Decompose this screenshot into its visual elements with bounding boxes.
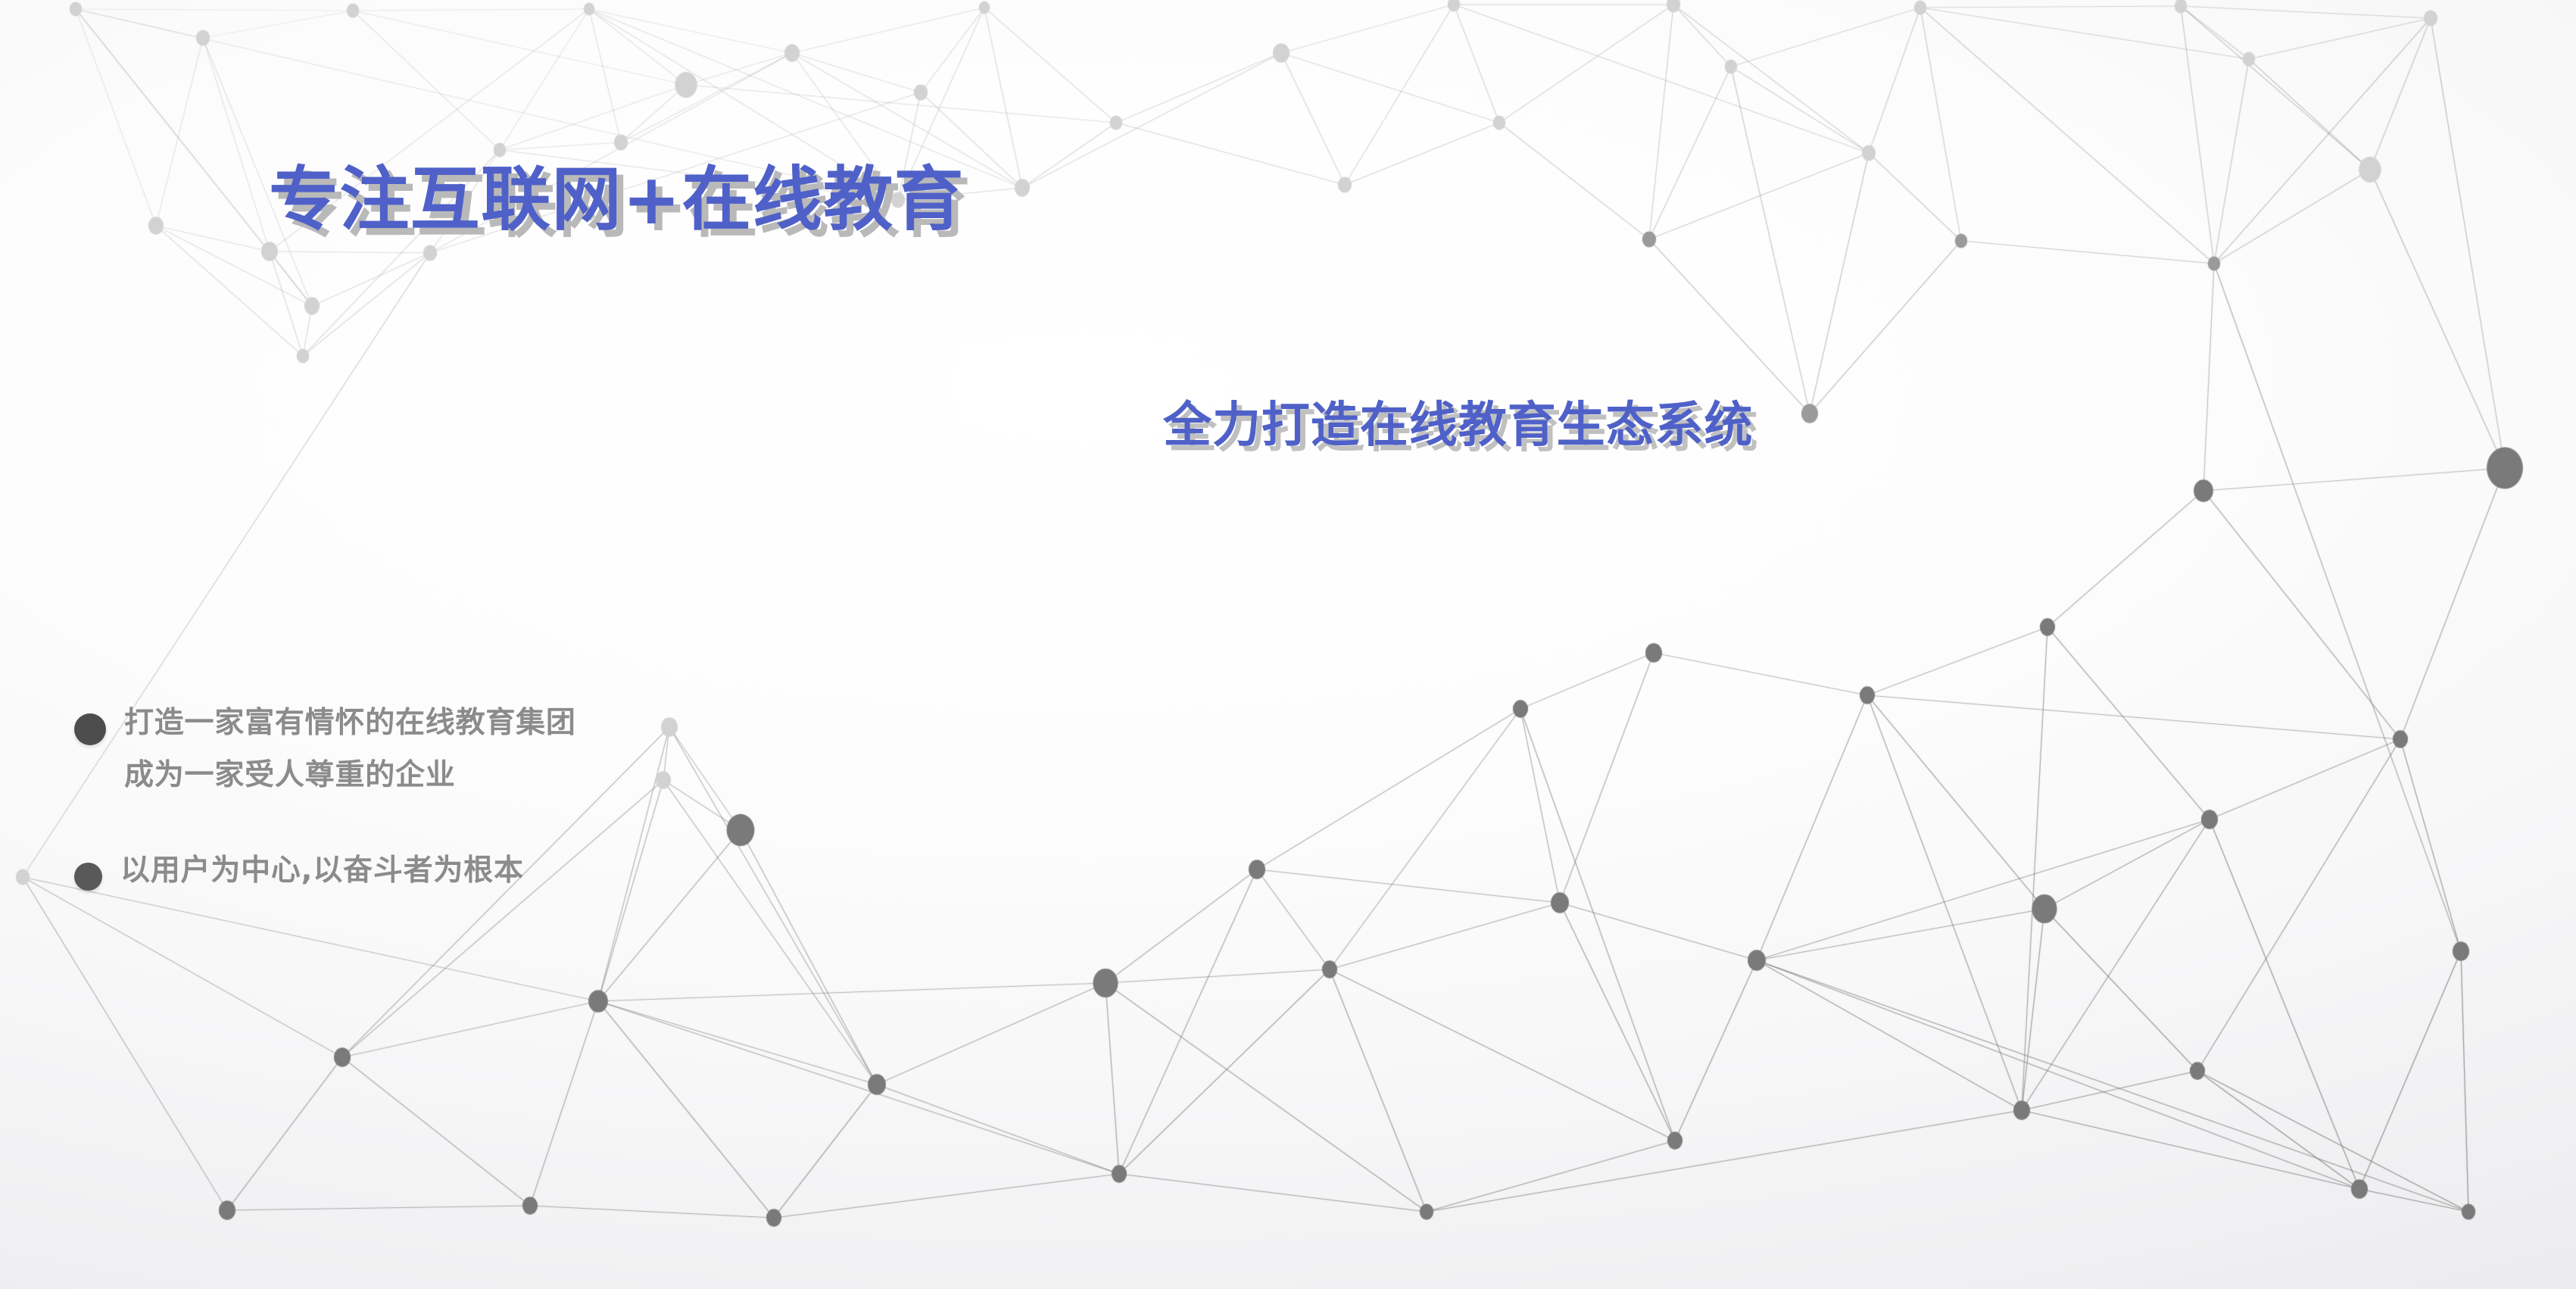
banner-slide: 专注互联网+在线教育 全力打造在线教育生态系统 打造一家富有情怀的在线教育集团 … — [0, 0, 2576, 1289]
bullet-text-block: 以用户为中心,以奋斗者为根本 — [120, 844, 524, 897]
bullet-dot-icon — [74, 863, 102, 891]
bullet-list: 打造一家富有情怀的在线教育集团 成为一家受人尊重的企业 以用户为中心,以奋斗者为… — [74, 697, 756, 897]
page-subtitle: 全力打造在线教育生态系统 — [1163, 401, 1754, 450]
bullet-dot-icon — [74, 713, 106, 745]
bullet-line: 打造一家富有情怀的在线教育集团 — [124, 706, 576, 740]
list-item: 以用户为中心,以奋斗者为根本 — [74, 844, 756, 897]
page-title: 专注互联网+在线教育 — [269, 165, 965, 235]
bullet-line: 成为一家受人尊重的企业 — [124, 758, 456, 792]
bullet-text-block: 打造一家富有情怀的在线教育集团 成为一家受人尊重的企业 — [124, 697, 576, 802]
list-item: 打造一家富有情怀的在线教育集团 成为一家受人尊重的企业 — [74, 697, 756, 802]
bullet-line: 以用户为中心,以奋斗者为根本 — [120, 854, 524, 888]
